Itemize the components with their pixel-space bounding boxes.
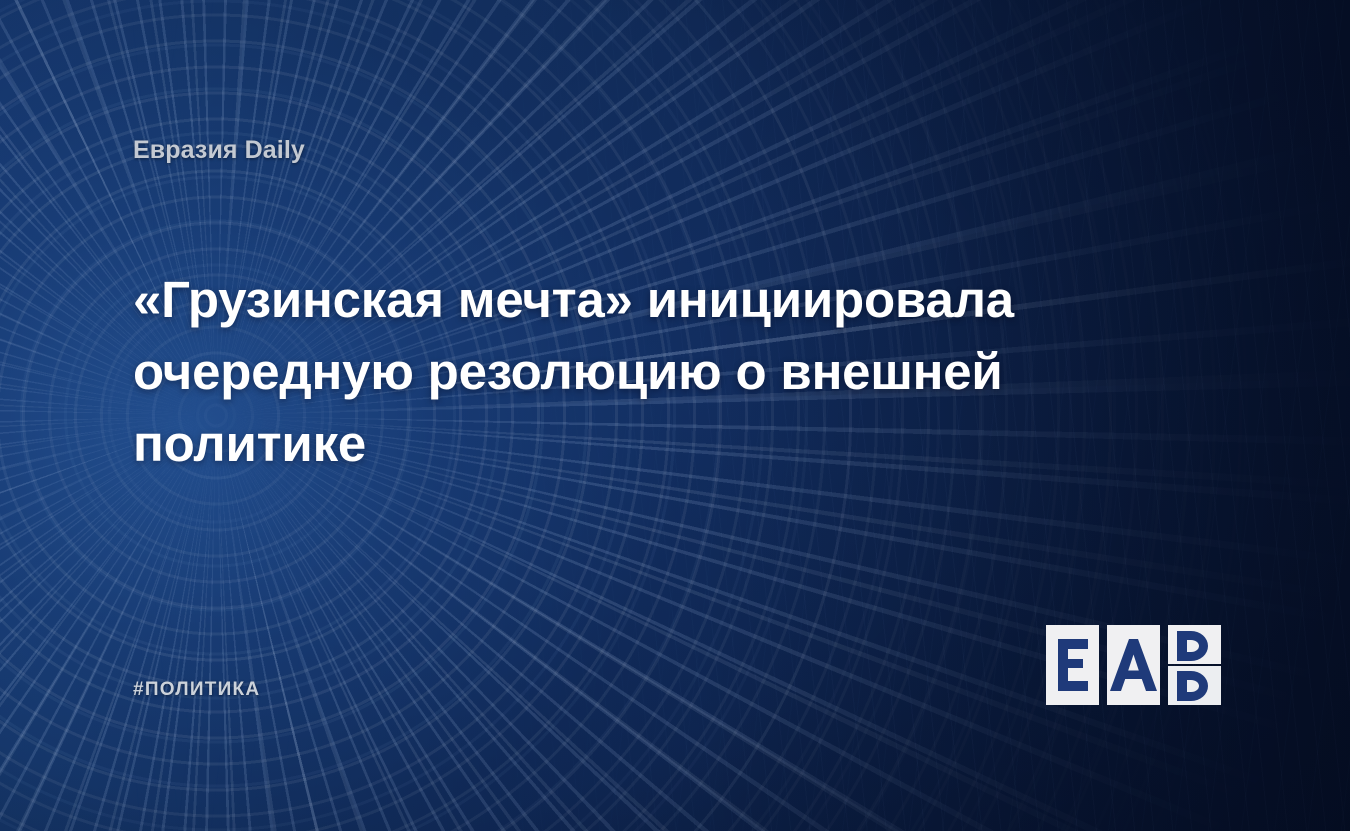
news-card: Евразия Daily «Грузинская мечта» инициир… <box>0 0 1350 831</box>
eadaily-logo[interactable] <box>1046 623 1226 707</box>
eadaily-logo-mark <box>1046 623 1226 707</box>
category-hashtag[interactable]: #ПОЛИТИКА <box>133 679 260 701</box>
page-title: «Грузинская мечта» инициировала очередну… <box>133 264 1093 480</box>
brand-label: Евразия Daily <box>133 136 305 165</box>
card-content: Евразия Daily «Грузинская мечта» инициир… <box>0 0 1350 831</box>
logo-tile-a <box>1107 625 1160 705</box>
